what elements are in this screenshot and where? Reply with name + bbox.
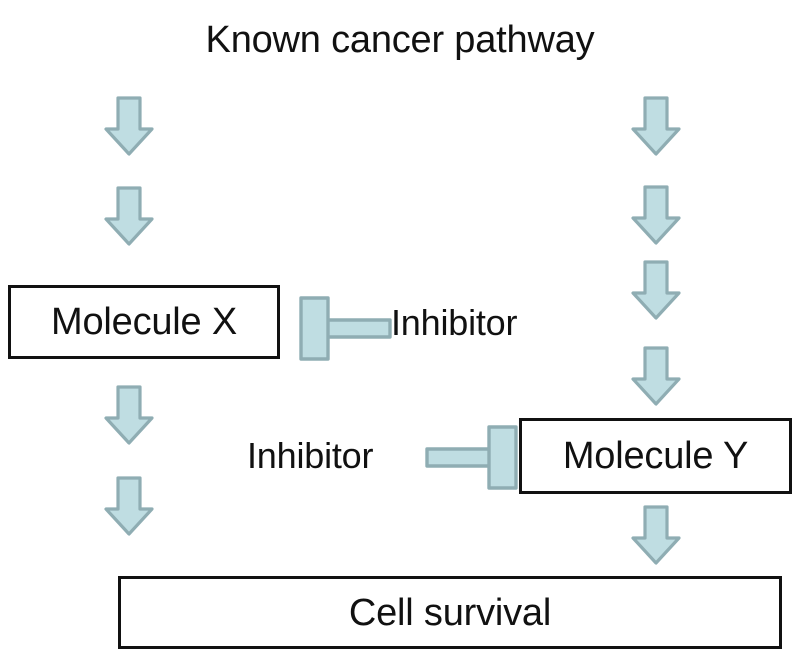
arrow-down-icon [631,96,681,156]
arrow-down-icon [104,476,154,536]
inhibitor-label-molecule-y: Inhibitor [247,436,373,476]
arrow-down-icon [104,385,154,445]
node-molecule-y: Molecule Y [519,418,792,494]
diagram-canvas: Known cancer pathway Molecule X [0,0,800,671]
arrow-down-icon [631,185,681,245]
node-label: Molecule Y [563,435,748,477]
inhibitor-tbar-icon [425,424,519,490]
inhibitor-label-molecule-x: Inhibitor [391,303,517,343]
node-label: Molecule X [51,301,237,343]
node-cell-survival: Cell survival [118,576,782,649]
arrow-down-icon [104,186,154,246]
arrow-down-icon [631,346,681,406]
page-title: Known cancer pathway [0,17,800,63]
inhibitor-tbar-icon [298,295,392,361]
arrow-down-icon [631,505,681,565]
arrow-down-icon [631,260,681,320]
arrow-down-icon [104,96,154,156]
node-label: Cell survival [349,592,551,634]
node-molecule-x: Molecule X [8,285,280,359]
